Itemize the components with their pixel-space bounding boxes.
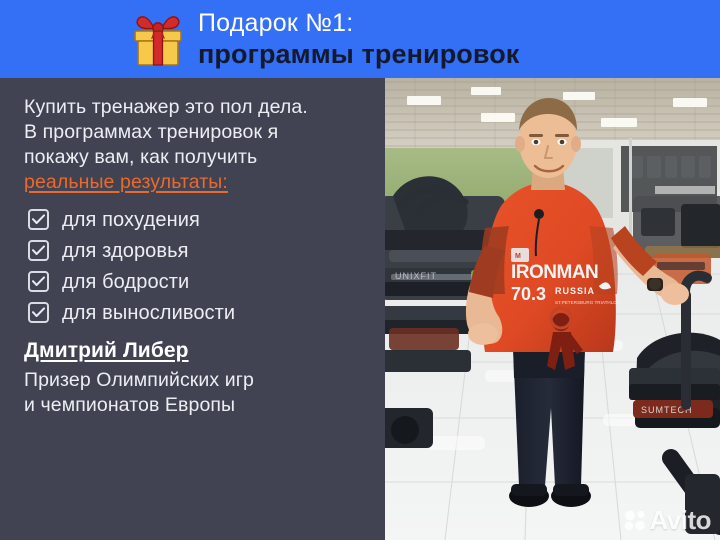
list-item: для бодрости: [28, 271, 373, 292]
intro-paragraph: Купить тренажер это пол дела. В программ…: [24, 95, 373, 195]
intro-line-3: покажу вам, как получить: [24, 146, 257, 168]
checkbox-checked-icon: [28, 271, 49, 292]
svg-text:RUSSIA: RUSSIA: [555, 286, 595, 296]
svg-text:M: M: [515, 253, 521, 260]
list-item: для похудения: [28, 209, 373, 230]
svg-text:UNIXFIT: UNIXFIT: [395, 271, 437, 281]
svg-text:ST.PETERSBURG TRIATHLON: ST.PETERSBURG TRIATHLON: [555, 300, 620, 305]
header-title-group: Подарок №1: программы тренировок: [198, 11, 519, 68]
author-title: Призер Олимпийских игр и чемпионатов Евр…: [24, 368, 373, 418]
gym-photo: UNIXFIT: [385, 78, 720, 540]
header-line-1: Подарок №1:: [198, 11, 519, 36]
author-name: Дмитрий Либер: [24, 339, 189, 363]
left-content-panel: Купить тренажер это пол дела. В программ…: [0, 78, 385, 540]
checklist-label: для бодрости: [62, 272, 189, 292]
checkbox-checked-icon: [28, 209, 49, 230]
list-item: для здоровья: [28, 240, 373, 261]
promo-banner: Подарок №1: программы тренировок Купить …: [0, 0, 720, 540]
checkbox-checked-icon: [28, 302, 49, 323]
author-title-line-1: Призер Олимпийских игр: [24, 369, 254, 391]
checkbox-checked-icon: [28, 240, 49, 261]
author-title-line-2: и чемпионатов Европы: [24, 394, 235, 416]
checklist-label: для похудения: [62, 210, 200, 230]
gift-icon: [132, 12, 184, 68]
checklist-label: для здоровья: [62, 241, 189, 261]
benefits-checklist: для похудения для здоровья для бодрости: [28, 209, 373, 323]
svg-text:70.3: 70.3: [511, 284, 546, 304]
intro-line-2: В программах тренировок я: [24, 121, 278, 143]
intro-line-1: Купить тренажер это пол дела.: [24, 96, 308, 118]
author-block: Дмитрий Либер Призер Олимпийских игр и ч…: [24, 339, 373, 418]
banner-header: Подарок №1: программы тренировок: [0, 0, 720, 78]
checklist-label: для выносливости: [62, 303, 235, 323]
list-item: для выносливости: [28, 302, 373, 323]
svg-text:IRONMAN: IRONMAN: [511, 262, 598, 283]
header-line-2: программы тренировок: [198, 41, 519, 68]
intro-accent-text: реальные результаты:: [24, 171, 228, 193]
